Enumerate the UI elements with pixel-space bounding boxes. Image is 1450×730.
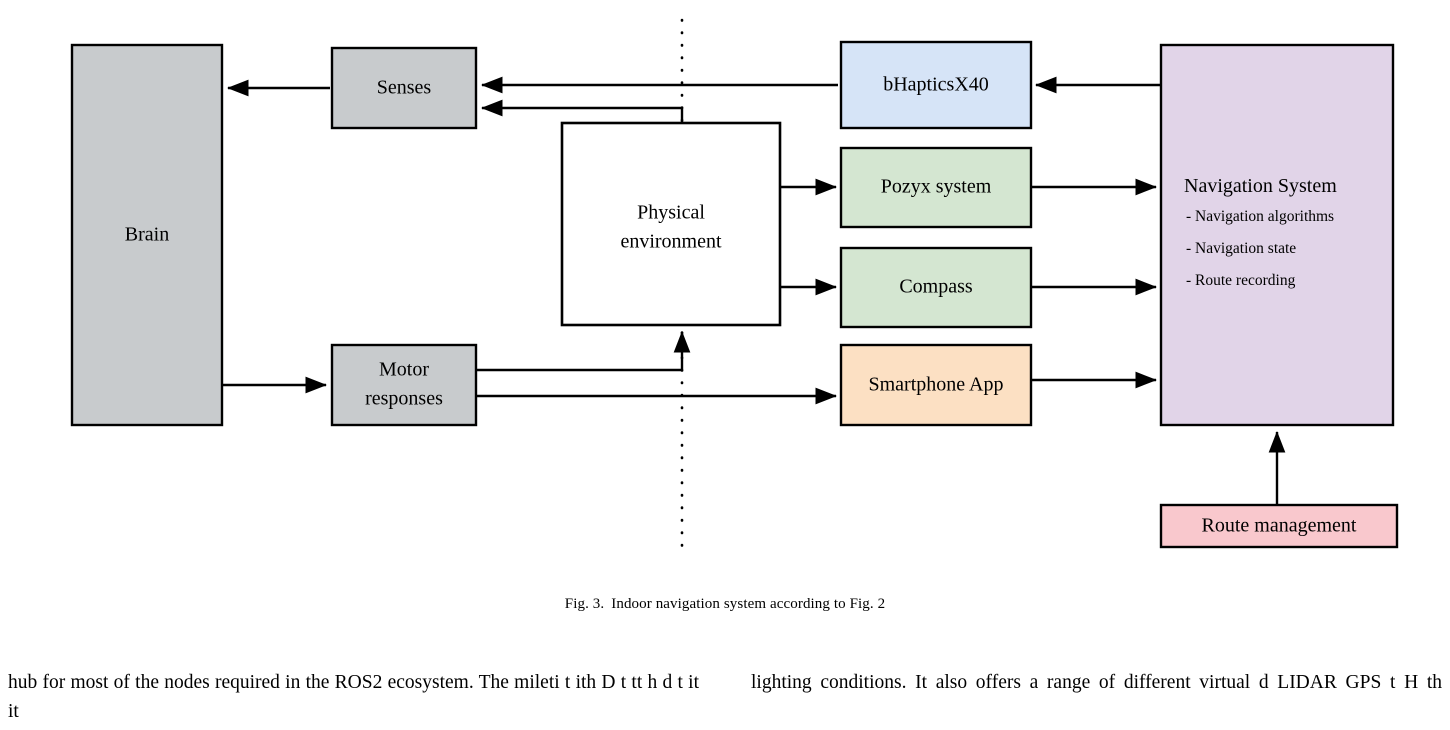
node-compass-label: Compass xyxy=(899,276,973,298)
indoor-navigation-diagram: Brain Senses Motor responses Physical en… xyxy=(0,0,1450,580)
node-physical-environment-label-line2: environment xyxy=(620,231,722,253)
body-column-left: hub for most of the nodes required in th… xyxy=(8,668,699,730)
node-brain-label: Brain xyxy=(125,224,169,246)
node-bhaptics-x40[interactable]: bHapticsX40 xyxy=(841,42,1031,128)
figure-diagram: Brain Senses Motor responses Physical en… xyxy=(0,0,1450,580)
node-navigation-system-bullet-0: - Navigation algorithms xyxy=(1186,208,1334,225)
node-senses-label: Senses xyxy=(377,77,432,99)
node-pozyx-system-label: Pozyx system xyxy=(881,176,992,198)
body-text-columns: hub for most of the nodes required in th… xyxy=(0,668,1450,730)
body-column-right-text: lighting conditions. It also offers a ra… xyxy=(751,668,1442,697)
node-motor-responses-label-line1: Motor xyxy=(379,359,429,381)
figure-caption-text: Indoor navigation system according to Fi… xyxy=(611,596,885,612)
figure-caption-number: Fig. 3. xyxy=(565,596,604,612)
node-motor-responses-label-line2: responses xyxy=(365,388,443,410)
node-physical-environment-label-line1: Physical xyxy=(637,202,705,224)
edge-motor-to-environment xyxy=(476,332,682,370)
edge-environment-to-senses xyxy=(482,108,682,123)
node-navigation-system[interactable]: Navigation System - Navigation algorithm… xyxy=(1161,45,1393,425)
node-smartphone-app[interactable]: Smartphone App xyxy=(841,345,1031,425)
node-route-management[interactable]: Route management xyxy=(1161,505,1397,547)
figure-caption: Fig. 3.Indoor navigation system accordin… xyxy=(0,596,1450,613)
node-navigation-system-bullet-2: - Route recording xyxy=(1186,272,1296,289)
node-bhaptics-x40-label: bHapticsX40 xyxy=(883,74,989,96)
node-senses[interactable]: Senses xyxy=(332,48,476,128)
node-navigation-system-title: Navigation System xyxy=(1184,175,1337,197)
node-pozyx-system[interactable]: Pozyx system xyxy=(841,148,1031,227)
node-navigation-system-bullet-1: - Navigation state xyxy=(1186,240,1296,257)
node-smartphone-app-label: Smartphone App xyxy=(869,374,1004,396)
body-column-right: lighting conditions. It also offers a ra… xyxy=(751,668,1442,730)
node-physical-environment[interactable]: Physical environment xyxy=(562,123,780,325)
node-route-management-label: Route management xyxy=(1202,515,1357,537)
node-motor-responses[interactable]: Motor responses xyxy=(332,345,476,425)
node-compass[interactable]: Compass xyxy=(841,248,1031,327)
body-column-left-text: hub for most of the nodes required in th… xyxy=(8,668,699,726)
node-brain[interactable]: Brain xyxy=(72,45,222,425)
